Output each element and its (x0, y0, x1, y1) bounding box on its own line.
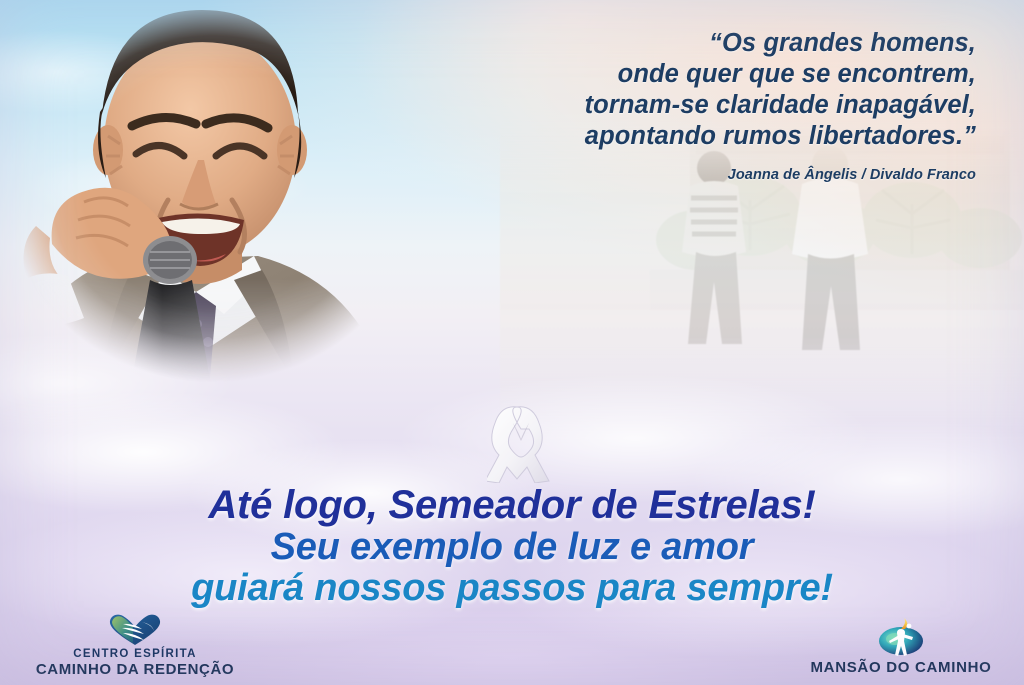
headline-line-2: Seu exemplo de luz e amor (0, 527, 1024, 568)
quote-block: “Os grandes homens, onde quer que se enc… (356, 28, 976, 184)
globe-figure-icon (875, 617, 927, 657)
logo-left-line-1: CENTRO ESPÍRITA (10, 647, 260, 661)
memorial-poster: “Os grandes homens, onde quer que se enc… (0, 0, 1024, 685)
logo-right-line-1: MANSÃO DO CAMINHO (786, 659, 1016, 677)
quote-line-1: “Os grandes homens, (356, 28, 976, 59)
headline-block: Até logo, Semeador de Estrelas! Seu exem… (0, 484, 1024, 609)
quote-line-4: apontando rumos libertadores.” (356, 121, 976, 152)
headline-line-1: Até logo, Semeador de Estrelas! (0, 484, 1024, 527)
headline-line-3: guiará nossos passos para sempre! (0, 568, 1024, 609)
heart-hands-icon (107, 612, 163, 646)
logo-left-line-2: CAMINHO DA REDENÇÃO (10, 661, 260, 679)
quote-attribution: Joanna de Ângelis / Divaldo Franco (356, 166, 976, 184)
logo-mansao-do-caminho: MANSÃO DO CAMINHO (786, 617, 1016, 677)
quote-line-3: tornam-se claridade inapagável, (356, 90, 976, 121)
white-awareness-ribbon-icon (487, 405, 555, 483)
logo-centro-espirita-caminho-da-redencao: CENTRO ESPÍRITA CAMINHO DA REDENÇÃO (10, 612, 260, 679)
quote-line-2: onde quer que se encontrem, (356, 59, 976, 90)
